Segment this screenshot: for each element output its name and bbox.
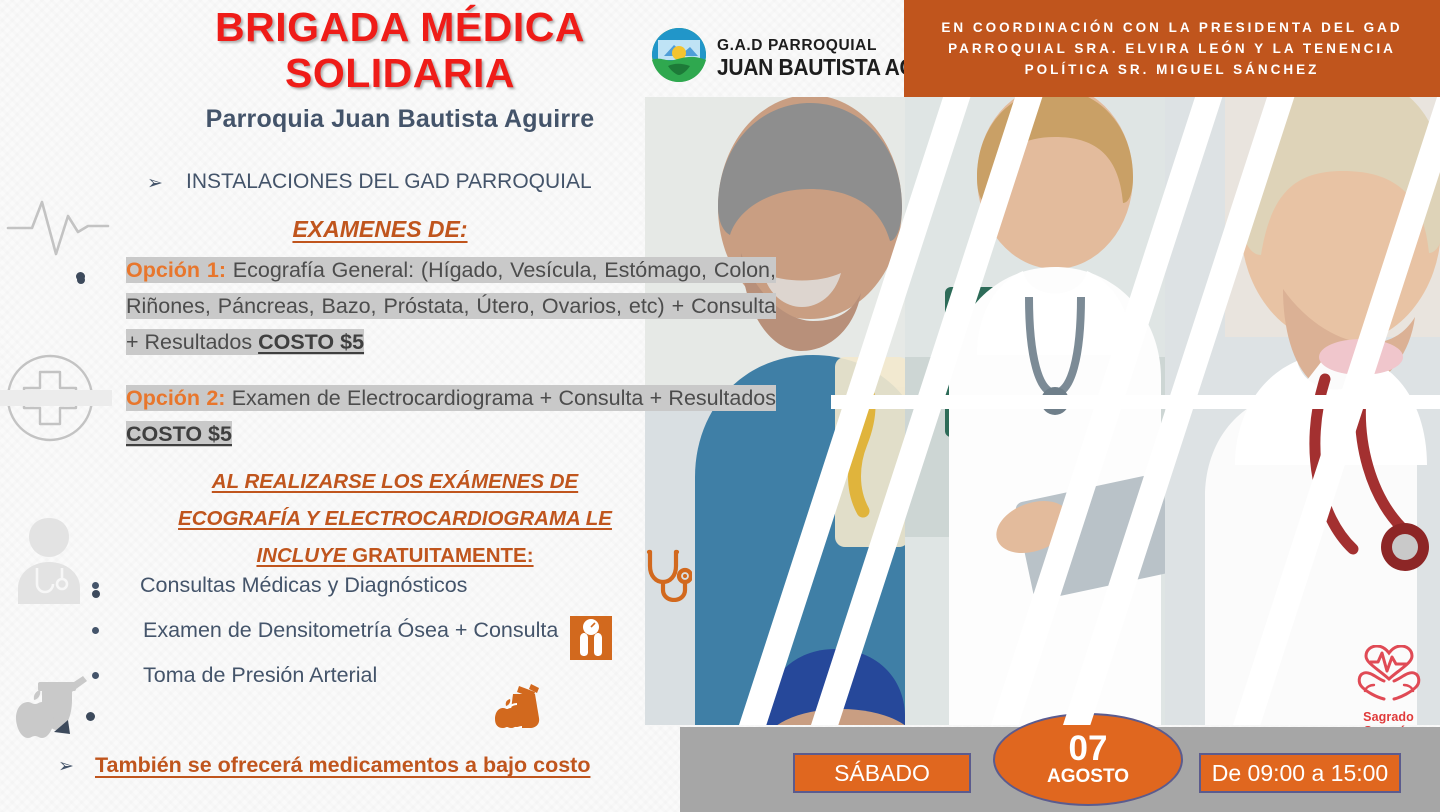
exam-option-2: Opción 2: Examen de Electrocardiograma +… — [126, 380, 776, 452]
day-of-week-box: SÁBADO — [793, 753, 971, 793]
collage-stripe-horizontal — [831, 395, 1440, 409]
option-1-cost: COSTO $5 — [258, 330, 364, 354]
bullet-dot — [92, 582, 99, 589]
bullet-dot — [92, 672, 99, 679]
footer-note: También se ofrecerá medicamentos a bajo … — [95, 753, 590, 778]
stethoscope-icon — [644, 548, 692, 607]
free-services-heading: AL REALIZARSE LOS EXÁMENES DE ECOGRAFÍA … — [130, 463, 660, 574]
decor-band — [0, 390, 112, 406]
option-1-label: Opción 1: — [126, 258, 226, 282]
option-2-cost: COSTO $5 — [126, 422, 232, 446]
doctor-figure-icon — [6, 512, 92, 608]
sponsor-logo: Sagrado Corazón — [1337, 645, 1440, 738]
bullet-dot — [92, 627, 99, 634]
location-text: INSTALACIONES DEL GAD PARROQUIAL — [186, 170, 592, 194]
benefit-item: Consultas Médicas y Diagnósticos — [90, 570, 610, 601]
day-number: 07 — [1069, 732, 1108, 766]
collage-photo-clinician — [905, 97, 1205, 725]
benefit-label: Examen de Densitometría Ósea + Consulta — [143, 618, 558, 642]
title-line-2: SOLIDARIA — [120, 50, 680, 96]
title-line-1: BRIGADA MÉDICA — [120, 4, 680, 50]
exams-heading: EXAMENES DE: — [130, 216, 630, 243]
hours-box: De 09:00 a 15:00 — [1199, 753, 1401, 793]
coordination-banner: EN COORDINACIÓN CON LA PRESIDENTA DEL GA… — [904, 0, 1440, 97]
date-oval: 07 AGOSTO — [993, 713, 1183, 806]
poster-title: BRIGADA MÉDICA SOLIDARIA Parroquia Juan … — [120, 4, 680, 134]
poster-canvas: BRIGADA MÉDICA SOLIDARIA Parroquia Juan … — [0, 0, 1440, 812]
month-label: AGOSTO — [1047, 766, 1129, 788]
decor-dot — [86, 712, 95, 721]
ecg-line-icon — [6, 186, 110, 264]
weight-scale-icon — [570, 616, 612, 665]
heart-in-hands-icon — [1348, 694, 1430, 711]
benefit-item: Examen de Densitometría Ósea + Consulta — [90, 615, 610, 646]
option-2-body: Examen de Electrocardiograma + Consulta … — [225, 386, 776, 410]
collage-photo-doctor — [1165, 97, 1440, 725]
free-head-line-1: AL REALIZARSE LOS EXÁMENES DE — [212, 470, 578, 493]
benefit-label: Consultas Médicas y Diagnósticos — [140, 573, 467, 597]
mortar-apple-icon — [8, 672, 100, 748]
bullet-arrow-icon: ➢ — [58, 755, 74, 778]
bullet-arrow-icon: ➢ — [147, 172, 163, 195]
free-head-line-2: ECOGRAFÍA Y ELECTROCARDIOGRAMA LE — [178, 507, 612, 530]
gad-emblem-icon — [648, 26, 710, 89]
banner-text: EN COORDINACIÓN CON LA PRESIDENTA DEL GA… — [904, 17, 1440, 80]
poster-subtitle: Parroquia Juan Bautista Aguirre — [120, 105, 680, 134]
free-head-line-3-italic: INCLUYE — [256, 544, 346, 567]
option-2-label: Opción 2: — [126, 386, 225, 410]
exam-option-1: Opción 1: Ecografía General: (Hígado, Ve… — [126, 252, 776, 360]
blood-pressure-icon — [495, 682, 545, 733]
free-head-line-3-normal: GRATUITAMENTE: — [346, 544, 533, 567]
benefit-label: Toma de Presión Arterial — [143, 663, 377, 687]
bullet-dot — [77, 276, 85, 284]
